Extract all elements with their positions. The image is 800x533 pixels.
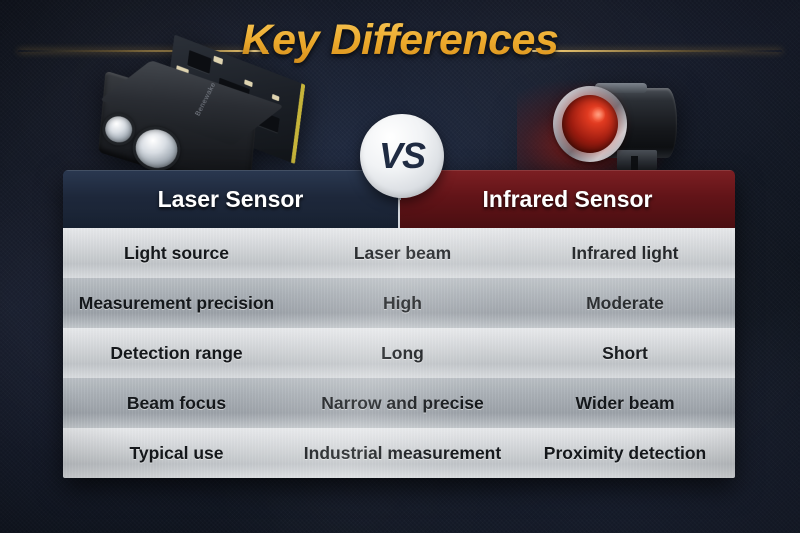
row-infrared-value: Wider beam — [515, 393, 735, 414]
infrared-mount-notch — [631, 156, 638, 170]
row-laser-value: Industrial measurement — [290, 443, 515, 464]
vs-badge-label: VS — [379, 138, 425, 174]
row-attribute-label: Measurement precision — [63, 293, 290, 314]
row-infrared-value: Moderate — [515, 293, 735, 314]
row-laser-value: Laser beam — [290, 243, 515, 264]
infographic-canvas: Key Differences Benewake — [0, 0, 800, 533]
table-row: Light source Laser beam Infrared light — [63, 228, 735, 278]
column-header-laser: Laser Sensor — [63, 170, 398, 228]
pcb-pad-icon — [244, 79, 253, 87]
laser-sensor-illustration: Benewake — [95, 50, 297, 183]
row-infrared-value: Infrared light — [515, 243, 735, 264]
row-attribute-label: Beam focus — [63, 393, 290, 414]
row-laser-value: Long — [290, 343, 515, 364]
row-laser-value: High — [290, 293, 515, 314]
table-row: Detection range Long Short — [63, 328, 735, 378]
pcb-pad-icon — [272, 94, 280, 101]
row-infrared-value: Short — [515, 343, 735, 364]
row-infrared-value: Proximity detection — [515, 443, 735, 464]
comparison-table: Laser Sensor Infrared Sensor Light sourc… — [63, 170, 735, 478]
table-body: Light source Laser beam Infrared light M… — [63, 228, 735, 478]
lens-highlight — [592, 107, 605, 122]
infrared-bezel-ring — [553, 86, 627, 162]
infrared-emitter-lens-icon — [562, 95, 618, 153]
pcb-chip-icon — [187, 50, 211, 74]
table-row: Beam focus Narrow and precise Wider beam — [63, 378, 735, 428]
column-header-infrared: Infrared Sensor — [398, 170, 735, 228]
infrared-sensor-illustration — [545, 74, 700, 182]
row-attribute-label: Light source — [63, 243, 290, 264]
vs-badge: VS — [360, 114, 444, 198]
pcb-pad-icon — [213, 56, 223, 65]
row-attribute-label: Detection range — [63, 343, 290, 364]
row-laser-value: Narrow and precise — [290, 393, 515, 414]
table-row: Typical use Industrial measurement Proxi… — [63, 428, 735, 478]
row-attribute-label: Typical use — [63, 443, 290, 464]
table-row: Measurement precision High Moderate — [63, 278, 735, 328]
